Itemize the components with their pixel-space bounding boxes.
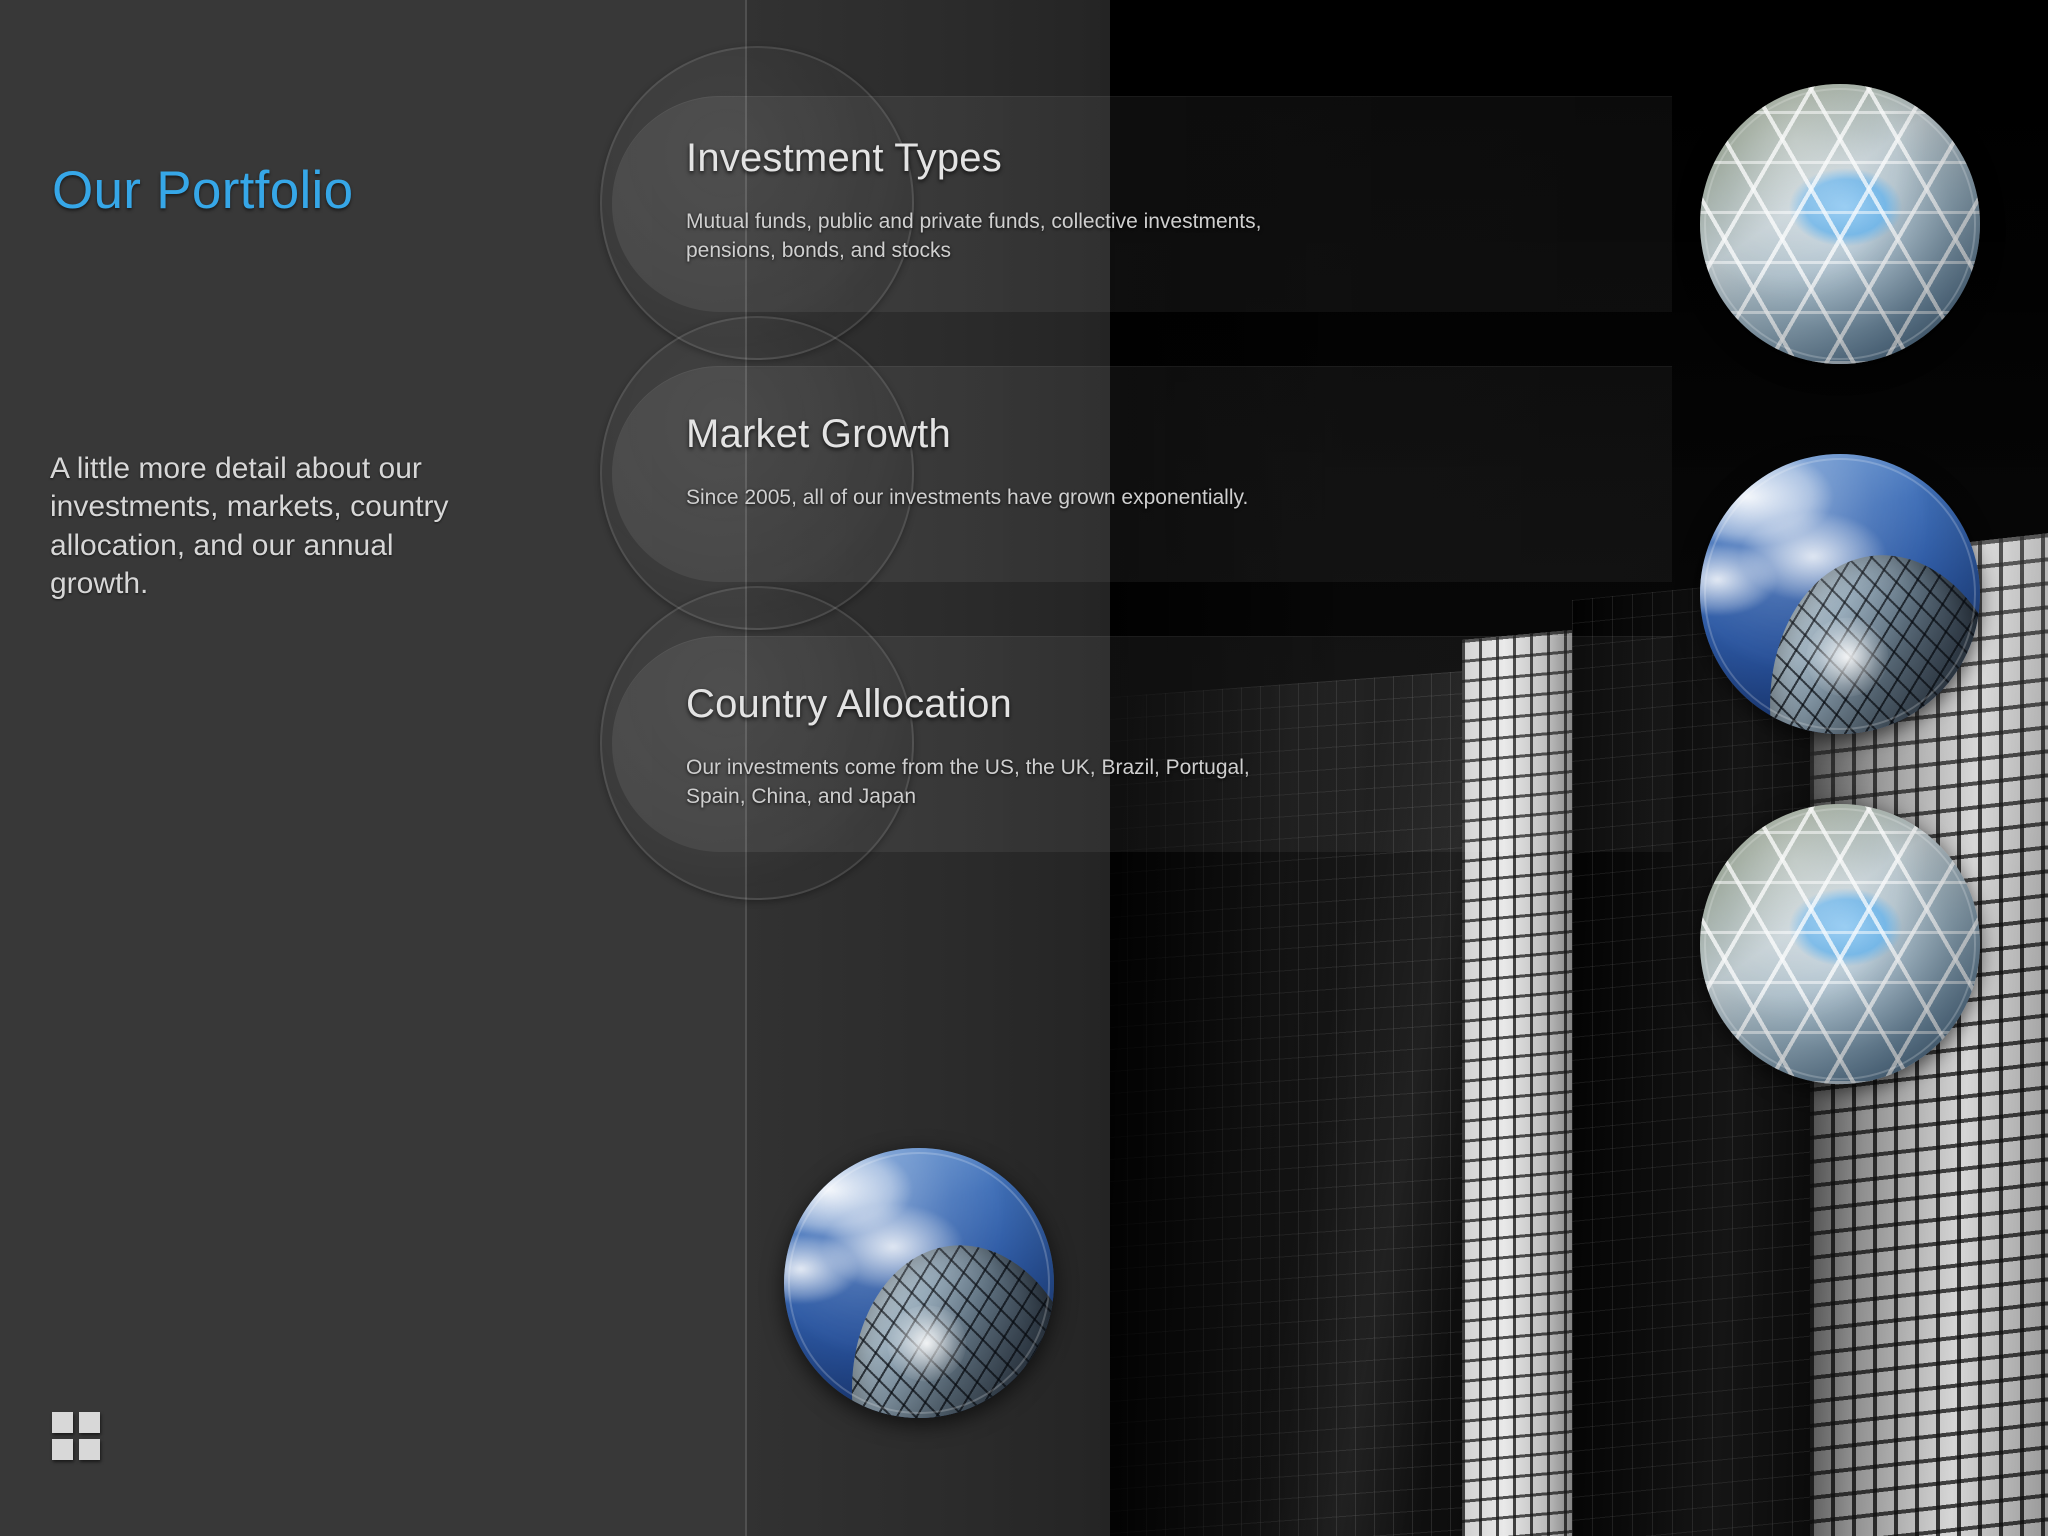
card-body-text: Mutual funds, public and private funds, … (686, 208, 1266, 265)
card-body-text: Our investments come from the US, the UK… (686, 754, 1266, 811)
gherkin-tower-photo (1700, 454, 1980, 734)
card-heading: Investment Types (686, 136, 1002, 181)
bubble-image-gherkin-2[interactable] (784, 1148, 1054, 1418)
card-circle-outline (600, 316, 914, 630)
card-circle-outline (600, 586, 914, 900)
bubble-image-gherkin-1[interactable] (1700, 454, 1980, 734)
page-title: Our Portfolio (52, 160, 353, 221)
slide-canvas: Our Portfolio A little more detail about… (0, 0, 2048, 1536)
logo-square-top-right (79, 1412, 100, 1433)
logo-square-bottom-right (79, 1439, 100, 1460)
card-circle-outline (600, 46, 914, 360)
logo-square-bottom-left (52, 1439, 73, 1460)
gherkin-tower-photo (784, 1148, 1054, 1418)
bubble-image-glass-dome-2[interactable] (1700, 804, 1980, 1084)
intro-paragraph: A little more detail about our investmen… (50, 450, 480, 604)
bubble-image-glass-dome-1[interactable] (1700, 84, 1980, 364)
card-heading: Country Allocation (686, 682, 1012, 727)
four-square-grid-logo-icon[interactable] (52, 1412, 100, 1460)
card-heading: Market Growth (686, 412, 951, 457)
glass-dome-photo (1700, 804, 1980, 1084)
card-body-text: Since 2005, all of our investments have … (686, 484, 1266, 513)
logo-square-top-left (52, 1412, 73, 1433)
glass-dome-photo (1700, 84, 1980, 364)
